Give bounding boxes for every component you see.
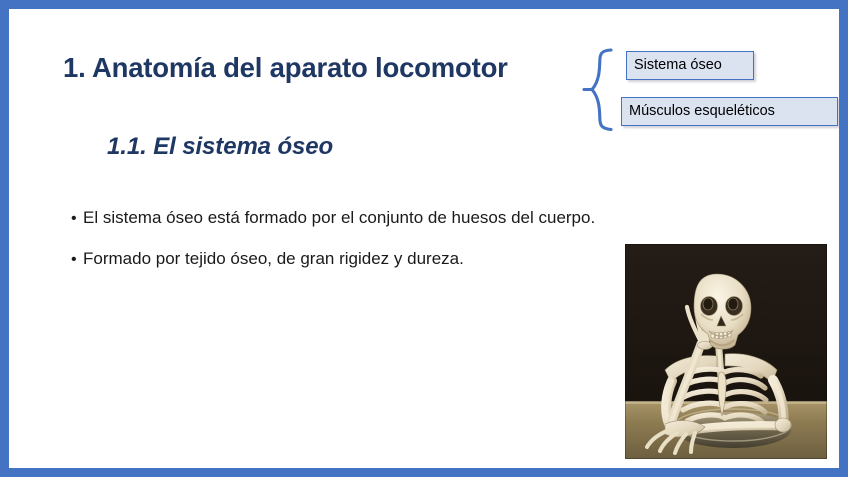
- section-subtitle: 1.1. El sistema óseo: [107, 133, 333, 161]
- page-title: 1. Anatomía del aparato locomotor: [63, 52, 583, 84]
- curly-brace-icon: [581, 47, 615, 133]
- slide-canvas: 1. Anatomía del aparato locomotor 1.1. E…: [9, 9, 839, 468]
- label-box-text: Músculos esqueléticos: [629, 104, 775, 119]
- bullet-text: Formado por tejido óseo, de gran rigidez…: [83, 249, 464, 269]
- bullet-marker: •: [71, 251, 83, 269]
- skeleton-photo: [625, 244, 827, 459]
- label-box-musculos-esqueleticos[interactable]: Músculos esqueléticos: [621, 97, 838, 126]
- bullet-text: El sistema óseo está formado por el conj…: [83, 208, 595, 228]
- label-box-text: Sistema óseo: [634, 58, 722, 73]
- list-item: • Formado por tejido óseo, de gran rigid…: [71, 249, 464, 269]
- list-item: • El sistema óseo está formado por el co…: [71, 208, 595, 228]
- label-box-sistema-oseo[interactable]: Sistema óseo: [626, 51, 754, 80]
- bullet-marker: •: [71, 210, 83, 228]
- slide: 1. Anatomía del aparato locomotor 1.1. E…: [0, 0, 848, 477]
